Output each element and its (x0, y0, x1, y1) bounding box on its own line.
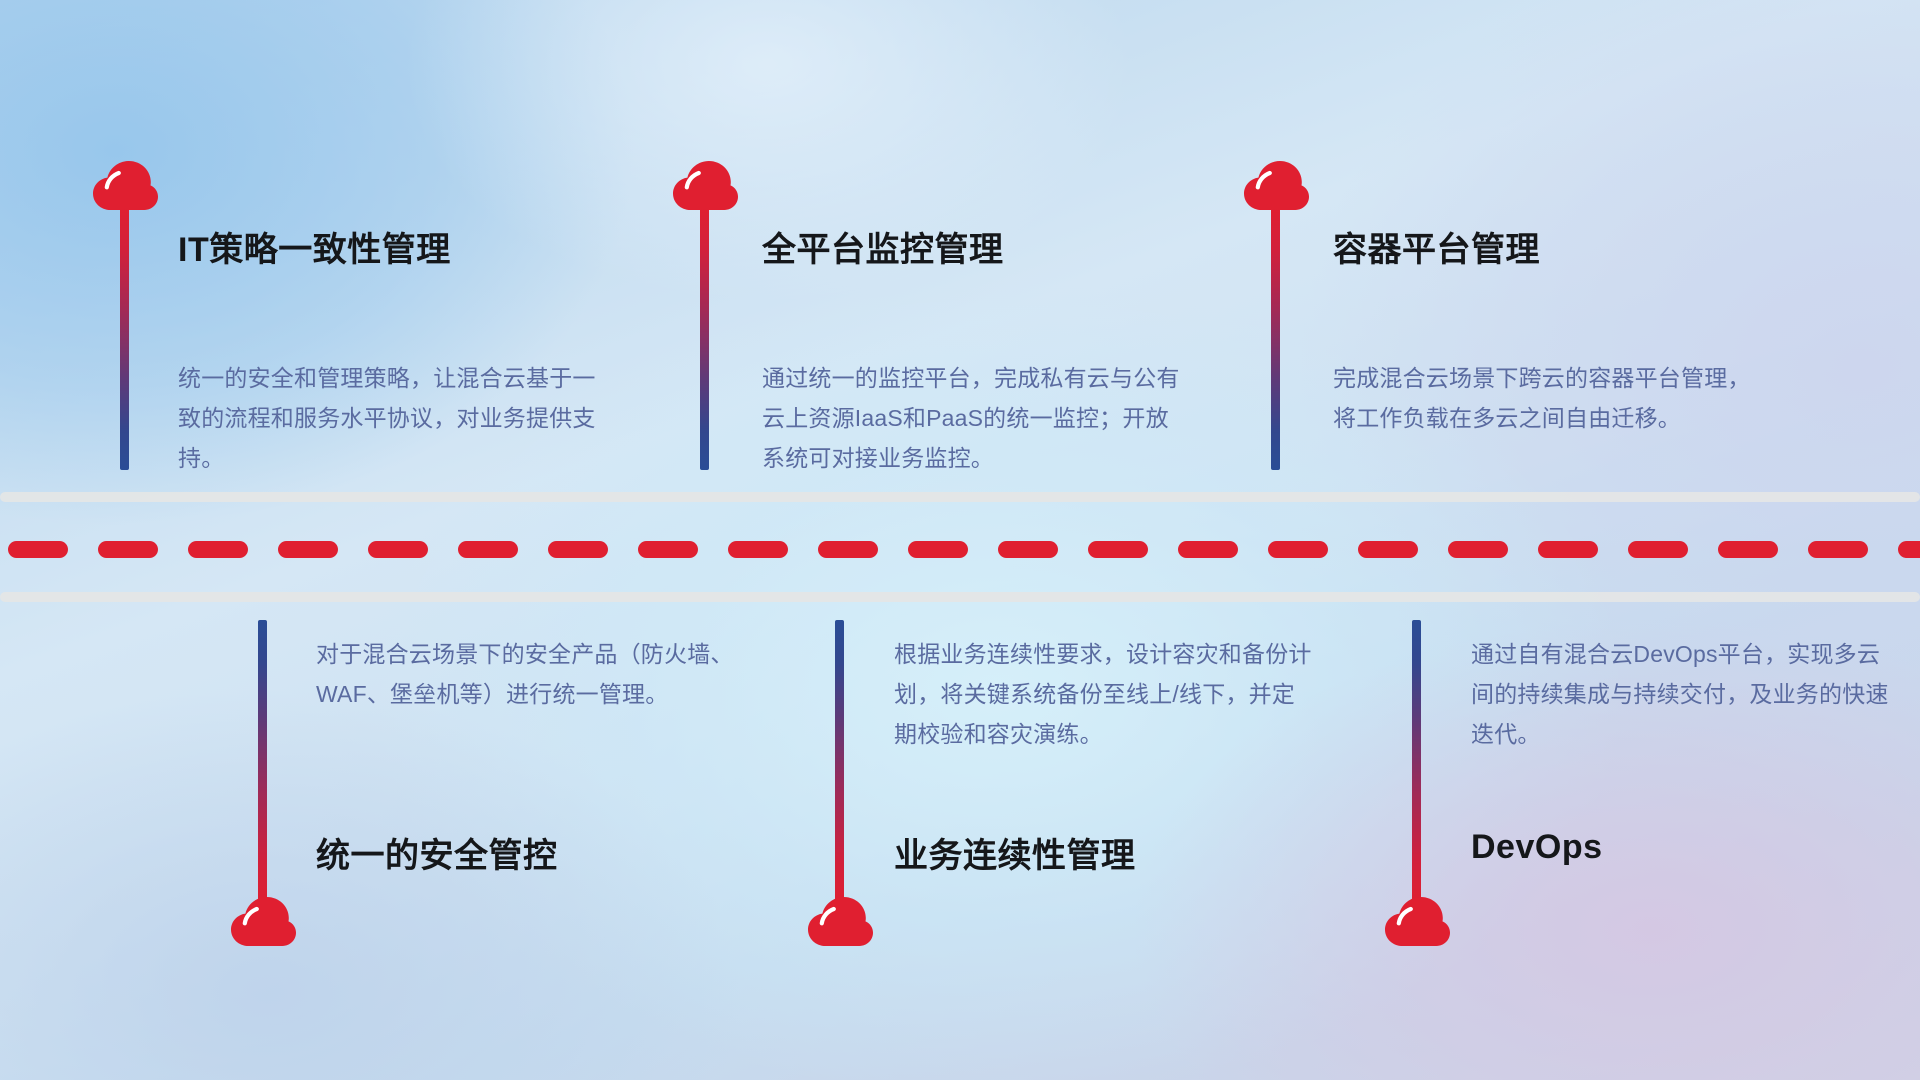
item-body-full-platform-monitoring: 通过统一的监控平台，完成私有云与公有云上资源IaaS和PaaS的统一监控；开放系… (762, 358, 1182, 478)
road-dash (458, 541, 518, 558)
road-dash (278, 541, 338, 558)
road-dash (1538, 541, 1598, 558)
item-body-devops: 通过自有混合云DevOps平台，实现多云间的持续集成与持续交付，及业务的快速迭代… (1471, 634, 1891, 754)
road-dash (188, 541, 248, 558)
road-dash (98, 541, 158, 558)
cloud-icon (92, 160, 158, 212)
infographic-canvas: IT策略一致性管理 统一的安全和管理策略，让混合云基于一致的流程和服务水平协议，… (0, 0, 1920, 1080)
cloud-icon (1384, 896, 1450, 948)
road-dash (1628, 541, 1688, 558)
item-body-it-policy-consistency: 统一的安全和管理策略，让混合云基于一致的流程和服务水平协议，对业务提供支持。 (178, 358, 598, 478)
road-dash (1088, 541, 1148, 558)
item-heading-business-continuity: 业务连续性管理 (894, 828, 1136, 877)
road-dash (8, 541, 68, 558)
item-body-container-platform: 完成混合云场景下跨云的容器平台管理，将工作负载在多云之间自由迁移。 (1333, 358, 1763, 438)
item-heading-container-platform: 容器平台管理 (1333, 222, 1540, 271)
pin-stem (120, 208, 129, 470)
cloud-icon (672, 160, 738, 212)
road-dash (1808, 541, 1868, 558)
road-dash (1898, 541, 1920, 558)
cloud-icon (1243, 160, 1309, 212)
item-heading-unified-security: 统一的安全管控 (316, 828, 558, 877)
road-dash (728, 541, 788, 558)
road-dash (1448, 541, 1508, 558)
item-heading-devops: DevOps (1471, 828, 1603, 867)
road-dash (1268, 541, 1328, 558)
road-dash (638, 541, 698, 558)
item-heading-full-platform-monitoring: 全平台监控管理 (762, 222, 1004, 271)
cloud-icon (807, 896, 873, 948)
road-center-dashes (0, 541, 1920, 558)
road-dash (1178, 541, 1238, 558)
pin-stem (835, 620, 844, 908)
item-body-unified-security: 对于混合云场景下的安全产品（防火墙、WAF、堡垒机等）进行统一管理。 (316, 634, 736, 714)
road-dash (548, 541, 608, 558)
item-body-business-continuity: 根据业务连续性要求，设计容灾和备份计划，将关键系统备份至线上/线下，并定期校验和… (894, 634, 1314, 754)
road-dash (368, 541, 428, 558)
item-heading-it-policy-consistency: IT策略一致性管理 (178, 222, 451, 271)
road-dash (908, 541, 968, 558)
road-edge-bottom-line (0, 592, 1920, 602)
pin-stem (700, 208, 709, 470)
road-dash (1358, 541, 1418, 558)
road-edge-top-line (0, 492, 1920, 502)
road-dash (818, 541, 878, 558)
pin-stem (258, 620, 267, 908)
pin-stem (1271, 208, 1280, 470)
cloud-icon (230, 896, 296, 948)
road-dash (998, 541, 1058, 558)
road-dash (1718, 541, 1778, 558)
pin-stem (1412, 620, 1421, 908)
